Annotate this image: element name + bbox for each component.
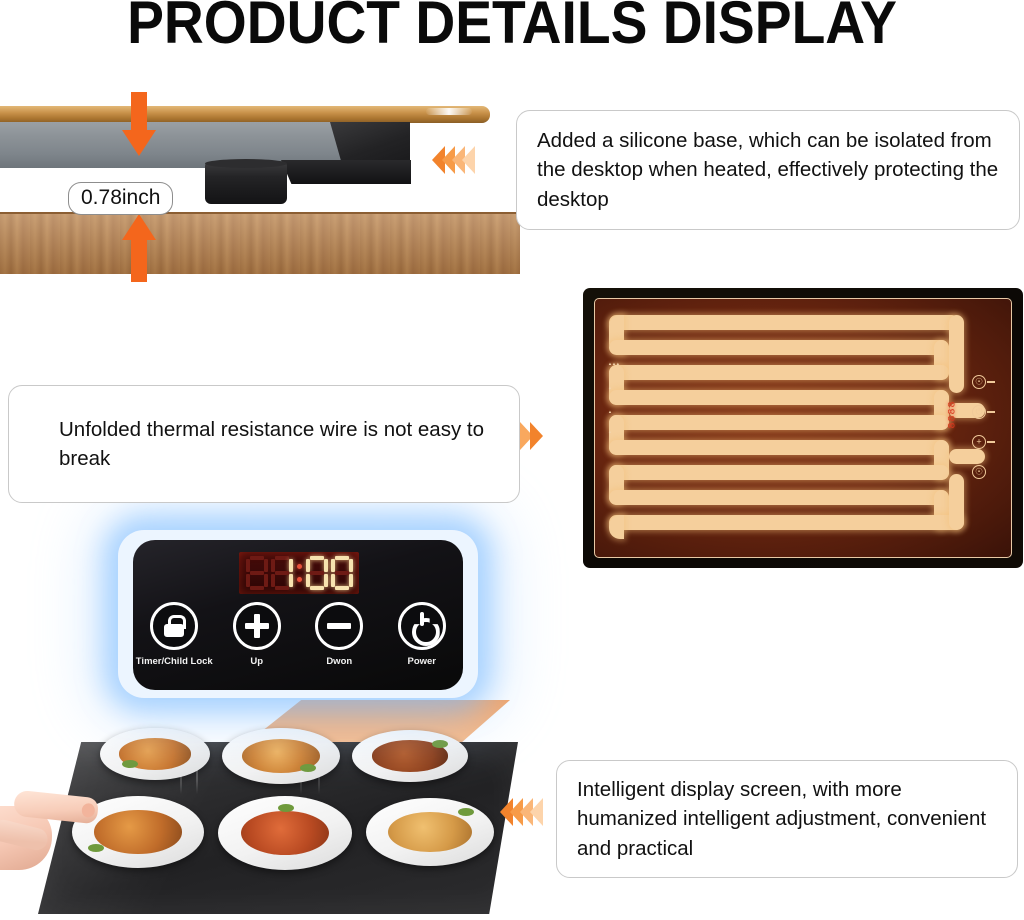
up-circle[interactable]	[233, 602, 281, 650]
display-colon	[296, 556, 303, 590]
wire-run	[609, 440, 949, 455]
wood-desktop	[0, 212, 520, 274]
wire-turn	[609, 515, 624, 539]
pointing-hand	[0, 780, 106, 872]
tray-black-lip	[281, 160, 411, 184]
display-digit	[246, 556, 268, 590]
plate-whole-roast-chicken	[222, 728, 340, 784]
control-panel: Timer/Child Lock Up Dwon	[133, 540, 463, 690]
wire-run	[609, 490, 949, 505]
plus-icon: +	[972, 435, 986, 449]
product-details-page: PRODUCT DETAILS DISPLAY 0.78inch Added a…	[0, 0, 1024, 920]
arrow-down-icon	[122, 92, 156, 166]
callout-thermal-wire-text: Unfolded thermal resistance wire is not …	[29, 415, 499, 473]
wire-run	[609, 365, 949, 380]
display-digit	[306, 556, 328, 590]
callout-display-screen-text: Intelligent display screen, with more hu…	[577, 775, 997, 862]
page-title: PRODUCT DETAILS DISPLAY	[41, 0, 983, 57]
power-label: Power	[407, 656, 436, 667]
silicone-foot	[205, 162, 287, 204]
callout-thermal-wire: Unfolded thermal resistance wire is not …	[8, 385, 520, 503]
power-icon: ⏻	[972, 405, 986, 419]
callout-silicone-base: Added a silicone base, which can be isol…	[516, 110, 1020, 230]
callout-display-screen: Intelligent display screen, with more hu…	[556, 760, 1018, 878]
arrow-up-icon	[122, 210, 156, 282]
chevron-right-icon	[530, 422, 543, 450]
control-panel-assembly: Timer/Child Lock Up Dwon	[110, 520, 490, 710]
chevron-left-icon	[462, 146, 475, 174]
up-label: Up	[250, 656, 263, 667]
callout-silicone-base-text: Added a silicone base, which can be isol…	[537, 126, 999, 213]
control-button-row: Timer/Child Lock Up Dwon	[133, 602, 463, 667]
heating-element-substrate: ☉ ⏻ + ☉ 8888 ▲▲▲ ▲ ▲ ▲	[594, 298, 1012, 558]
wire-run	[609, 390, 949, 405]
lock-icon: ☉	[972, 465, 986, 479]
chevron-group-left-bottom	[500, 798, 540, 826]
down-label: Dwon	[326, 656, 352, 667]
chevron-group-left-top	[432, 146, 472, 174]
plate-spaghetti-bolognese	[218, 796, 352, 870]
power-button[interactable]: Power	[394, 602, 450, 667]
timer-child-lock-button[interactable]: Timer/Child Lock	[146, 602, 202, 667]
plus-icon	[245, 614, 269, 638]
chevron-left-icon	[530, 798, 543, 826]
display-digit	[331, 556, 353, 590]
heater-segment-readout: 8888	[947, 400, 958, 428]
plate-breaded-cutlet	[366, 798, 494, 866]
power-icon	[410, 614, 434, 638]
power-circle[interactable]	[398, 602, 446, 650]
timer-icon: ☉	[972, 375, 986, 389]
wire-run	[609, 315, 959, 330]
tray-gold-edge	[0, 106, 490, 123]
display-digit	[271, 556, 293, 590]
down-circle[interactable]	[315, 602, 363, 650]
plate-sliced-steak	[352, 730, 468, 782]
wire-run	[609, 465, 949, 480]
plate-roast-meat-vegetables	[100, 728, 210, 780]
minus-icon	[327, 614, 351, 638]
timer-child-lock-label: Timer/Child Lock	[136, 656, 213, 667]
wire-run	[609, 340, 949, 355]
warming-tray-scene	[0, 700, 560, 920]
up-button[interactable]: Up	[229, 602, 285, 667]
wire-run	[609, 415, 949, 430]
heating-element-panel: ☉ ⏻ + ☉ 8888 ▲▲▲ ▲ ▲ ▲	[583, 288, 1023, 568]
down-button[interactable]: Dwon	[311, 602, 367, 667]
seven-segment-display	[239, 552, 359, 594]
wire-run	[609, 515, 964, 530]
heater-printed-marks: ▲▲▲ ▲ ▲ ▲	[608, 361, 652, 439]
dimension-badge-078inch: 0.78inch	[68, 182, 173, 215]
timer-child-lock-circle[interactable]	[150, 602, 198, 650]
heater-control-legend: ☉ ⏻ + ☉ 8888	[951, 373, 1007, 493]
lock-icon	[164, 615, 184, 637]
